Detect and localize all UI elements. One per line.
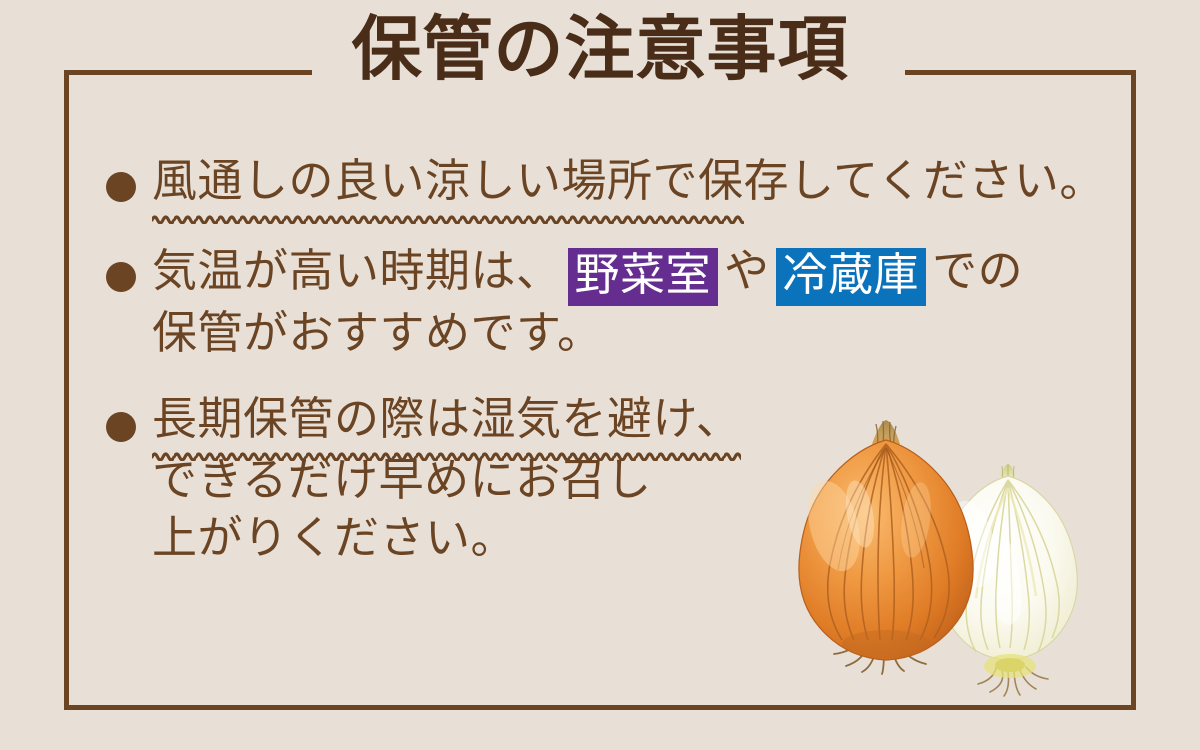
note-line: 長期保管の際は湿気を避け、 [152,390,1120,451]
note-text-long-term: 長期保管の際は湿気を避け、 できるだけ早めにお召し 上がりください。 [100,390,1120,568]
note-line-tail: 存してください。 [744,155,1105,206]
note-line: 気温が高い時期は、野菜室や冷蔵庫での [152,240,1120,302]
note-line: 上がりください。 [152,509,1120,568]
frame-border-left [64,70,69,710]
bullet-dot-icon [106,172,136,202]
note-line-suffix: での [932,245,1023,296]
list-item-warm-season: 気温が高い時期は、野菜室や冷蔵庫での 保管がおすすめです。 [100,240,1120,364]
page-title: 保管の注意事項 [0,14,1200,84]
wavy-underlined-text: 長期保管の際は湿気を避け、 [152,390,741,451]
highlight-chip-refrigerator: 冷蔵庫 [776,248,927,306]
list-item-ventilation: 風通しの良い涼しい場所で保存してください。 [100,150,1120,214]
note-text-warm-season: 気温が高い時期は、野菜室や冷蔵庫での 保管がおすすめです。 [100,240,1120,364]
note-line-conjunction: や [724,245,770,296]
list-item-long-term: 長期保管の際は湿気を避け、 できるだけ早めにお召し 上がりください。 [100,390,1120,568]
note-line: 保管がおすすめです。 [152,302,1120,364]
highlight-chip-vegetable-drawer: 野菜室 [568,248,719,306]
storage-notice-card: 保管の注意事項 風通しの良い涼しい場所で保存してください。 気温が高い時期は、野… [0,0,1200,750]
note-line-prefix: 気温が高い時期は、 [152,245,562,296]
note-text-ventilation: 風通しの良い涼しい場所で保存してください。 [100,150,1120,214]
wavy-underlined-text: 風通しの良い涼しい場所で保 [152,150,744,214]
notes-list: 風通しの良い涼しい場所で保存してください。 気温が高い時期は、野菜室や冷蔵庫での… [100,150,1120,568]
bullet-dot-icon [106,262,136,292]
note-line: 風通しの良い涼しい場所で保存してください。 [152,150,1120,214]
frame-border-right [1131,70,1136,710]
